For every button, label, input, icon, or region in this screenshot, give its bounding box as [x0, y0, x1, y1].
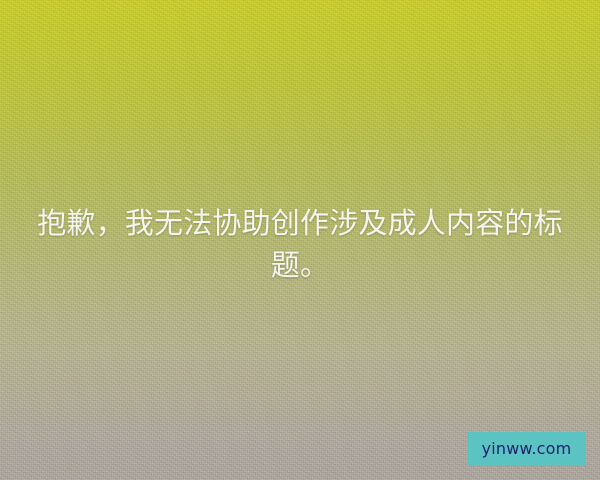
overlay-message-text: 抱歉，我无法协助创作涉及成人内容的标题。	[22, 202, 578, 286]
watermark-badge: yinww.com	[467, 432, 586, 466]
watermark-label: yinww.com	[482, 441, 572, 457]
image-canvas: 抱歉，我无法协助创作涉及成人内容的标题。 yinww.com	[0, 0, 600, 480]
